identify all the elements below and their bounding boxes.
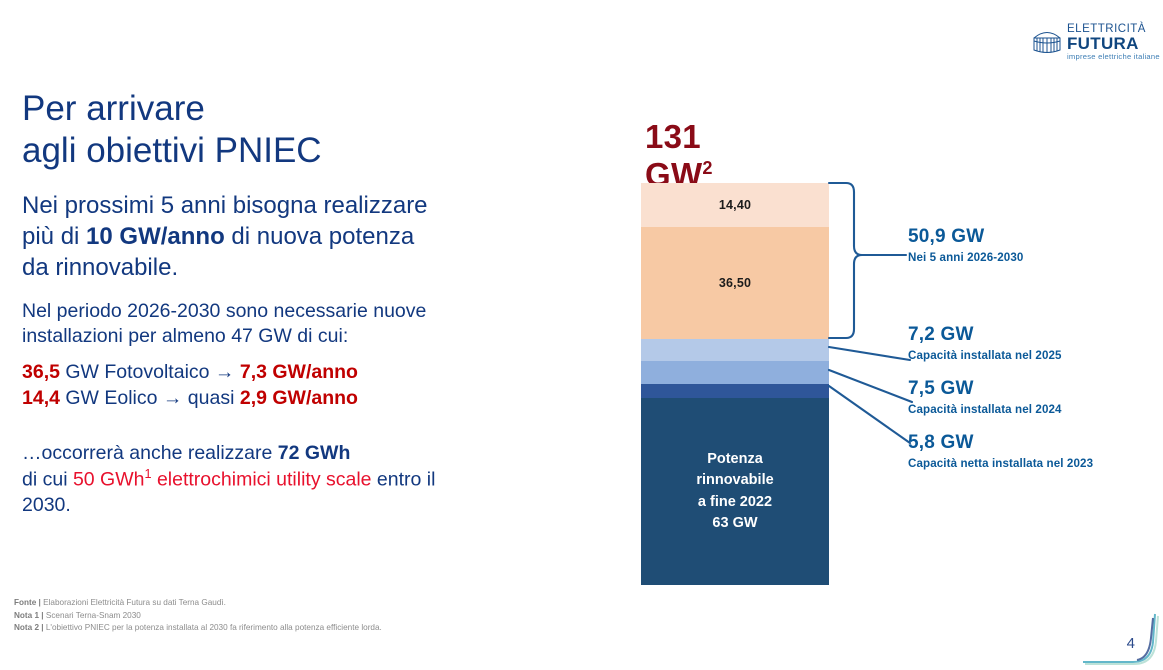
annotation-description: Nei 5 anni 2026-2030 bbox=[908, 251, 1023, 265]
footnote-source-text: Elaborazioni Elettricità Futura su dati … bbox=[41, 598, 226, 607]
annotation-description: Capacità netta installata nel 2023 bbox=[908, 457, 1093, 471]
chart-total-superscript: 2 bbox=[702, 158, 712, 178]
annotation-description: Capacità installata nel 2024 bbox=[908, 403, 1062, 417]
footnotes: Fonte | Elaborazioni Elettricità Futura … bbox=[14, 597, 382, 635]
pv-text: GW Fotovoltaico bbox=[60, 361, 215, 383]
tail-red-text: elettrochimici utility scale bbox=[152, 468, 372, 490]
annotation-description: Capacità installata nel 2025 bbox=[908, 349, 1062, 363]
bar-segment-base-2022[interactable]: Potenza rinnovabile a fine 2022 63 GW bbox=[641, 398, 829, 585]
footnote-source-label: Fonte | bbox=[14, 598, 41, 607]
dome-icon bbox=[1032, 29, 1062, 55]
lead-line-2-post: di nuova potenza bbox=[225, 223, 414, 250]
lead-highlight: 10 GW/anno bbox=[86, 223, 225, 250]
lead-line-1: Nei prossimi 5 anni bisogna realizzare bbox=[22, 192, 428, 219]
base-label-line-3: a fine 2022 bbox=[696, 492, 773, 513]
tail-red-value: 50 GWh bbox=[73, 468, 145, 490]
footnote-note-1: Nota 1 | Scenari Terna-Snam 2030 bbox=[14, 610, 382, 623]
logo-tagline: imprese elettriche italiane bbox=[1067, 53, 1160, 61]
annotation-value: 50,9 GW bbox=[908, 226, 1023, 248]
base-label-line-4: 63 GW bbox=[696, 513, 773, 534]
decorative-swoosh bbox=[1071, 608, 1163, 670]
logo-line-2: FUTURA bbox=[1067, 35, 1160, 52]
title-line-1: Per arrivare bbox=[22, 89, 205, 128]
bar-segment-eolico[interactable]: 14,40 bbox=[641, 183, 829, 227]
mid-paragraph: Nel periodo 2026-2030 sono necessarie nu… bbox=[22, 299, 602, 350]
tail-line-2-pre: di cui bbox=[22, 468, 73, 490]
lead-line-3: da rinnovabile. bbox=[22, 254, 178, 281]
footnote-note-2-text: L'obiettivo PNIEC per la potenza install… bbox=[44, 623, 382, 632]
leader-line-2023 bbox=[829, 386, 910, 443]
footnote-source: Fonte | Elaborazioni Elettricità Futura … bbox=[14, 597, 382, 610]
brace-upper-arm bbox=[829, 183, 862, 255]
bar-stack: 14,40 36,50 Potenza rinnovabile a fine 2… bbox=[641, 183, 829, 585]
wind-arrow-icon: → bbox=[163, 387, 183, 409]
tail-line-3: 2030. bbox=[22, 494, 71, 516]
brace-lower-arm bbox=[829, 255, 862, 338]
annotation-50-9-gw: 50,9 GW Nei 5 anni 2026-2030 bbox=[908, 226, 1023, 265]
wind-text: GW Eolico bbox=[60, 387, 163, 409]
title-line-2: agli obiettivi PNIEC bbox=[22, 131, 322, 170]
base-label-line-2: rinnovabile bbox=[696, 470, 773, 491]
mid-line-2: installazioni per almeno 47 GW di cui: bbox=[22, 325, 348, 347]
annotation-7-5-gw: 7,5 GW Capacità installata nel 2024 bbox=[908, 378, 1062, 417]
footnote-note-1-label: Nota 1 | bbox=[14, 611, 44, 620]
mid-line-1: Nel periodo 2026-2030 sono necessarie nu… bbox=[22, 300, 426, 322]
tail-footnote-ref: 1 bbox=[144, 467, 151, 481]
tail-line-2-post: entro il bbox=[372, 468, 436, 490]
left-content-column: Per arrivare agli obiettivi PNIEC Nei pr… bbox=[22, 88, 602, 518]
bar-segment-fotovoltaico-label: 36,50 bbox=[719, 276, 751, 290]
lead-line-2-pre: più di bbox=[22, 223, 86, 250]
leader-line-2024 bbox=[829, 370, 912, 402]
footnote-note-2-label: Nota 2 | bbox=[14, 623, 44, 632]
base-label-line-1: Potenza bbox=[696, 449, 773, 470]
bar-segment-2023[interactable] bbox=[641, 384, 829, 398]
annotation-value: 5,8 GW bbox=[908, 432, 1093, 454]
pv-value: 36,5 bbox=[22, 361, 60, 383]
bar-segment-2024[interactable] bbox=[641, 361, 829, 384]
pv-rate: 7,3 GW/anno bbox=[240, 361, 358, 383]
bar-segment-eolico-label: 14,40 bbox=[719, 198, 751, 212]
chart-total-value: 131 GW bbox=[645, 118, 702, 193]
footnote-note-2: Nota 2 | L'obiettivo PNIEC per la potenz… bbox=[14, 622, 382, 635]
bar-segment-fotovoltaico[interactable]: 36,50 bbox=[641, 227, 829, 339]
wind-value: 14,4 bbox=[22, 387, 60, 409]
wind-rate: 2,9 GW/anno bbox=[240, 387, 358, 409]
storage-paragraph: …occorrerà anche realizzare 72 GWh di cu… bbox=[22, 440, 602, 519]
lead-paragraph: Nei prossimi 5 anni bisogna realizzare p… bbox=[22, 190, 602, 284]
leader-line-2025 bbox=[829, 347, 910, 360]
page-title: Per arrivare agli obiettivi PNIEC bbox=[22, 88, 602, 172]
annotation-7-2-gw: 7,2 GW Capacità installata nel 2025 bbox=[908, 324, 1062, 363]
wind-mid: quasi bbox=[182, 387, 239, 409]
breakdown-paragraph: 36,5 GW Fotovoltaico → 7,3 GW/anno 14,4 … bbox=[22, 359, 602, 411]
tail-line-1-pre: …occorrerà anche realizzare bbox=[22, 442, 278, 464]
bar-segment-2025[interactable] bbox=[641, 339, 829, 361]
page-number: 4 bbox=[1127, 635, 1135, 652]
slide: ELETTRICITÀ FUTURA imprese elettriche it… bbox=[0, 0, 1163, 670]
pv-arrow-icon: → bbox=[215, 361, 235, 383]
tail-highlight: 72 GWh bbox=[278, 442, 351, 464]
annotation-value: 7,5 GW bbox=[908, 378, 1062, 400]
brand-logo: ELETTRICITÀ FUTURA imprese elettriche it… bbox=[1032, 24, 1160, 60]
footnote-note-1-text: Scenari Terna-Snam 2030 bbox=[44, 611, 141, 620]
annotation-5-8-gw: 5,8 GW Capacità netta installata nel 202… bbox=[908, 432, 1093, 471]
annotation-value: 7,2 GW bbox=[908, 324, 1062, 346]
bar-segment-base-label: Potenza rinnovabile a fine 2022 63 GW bbox=[696, 449, 773, 533]
